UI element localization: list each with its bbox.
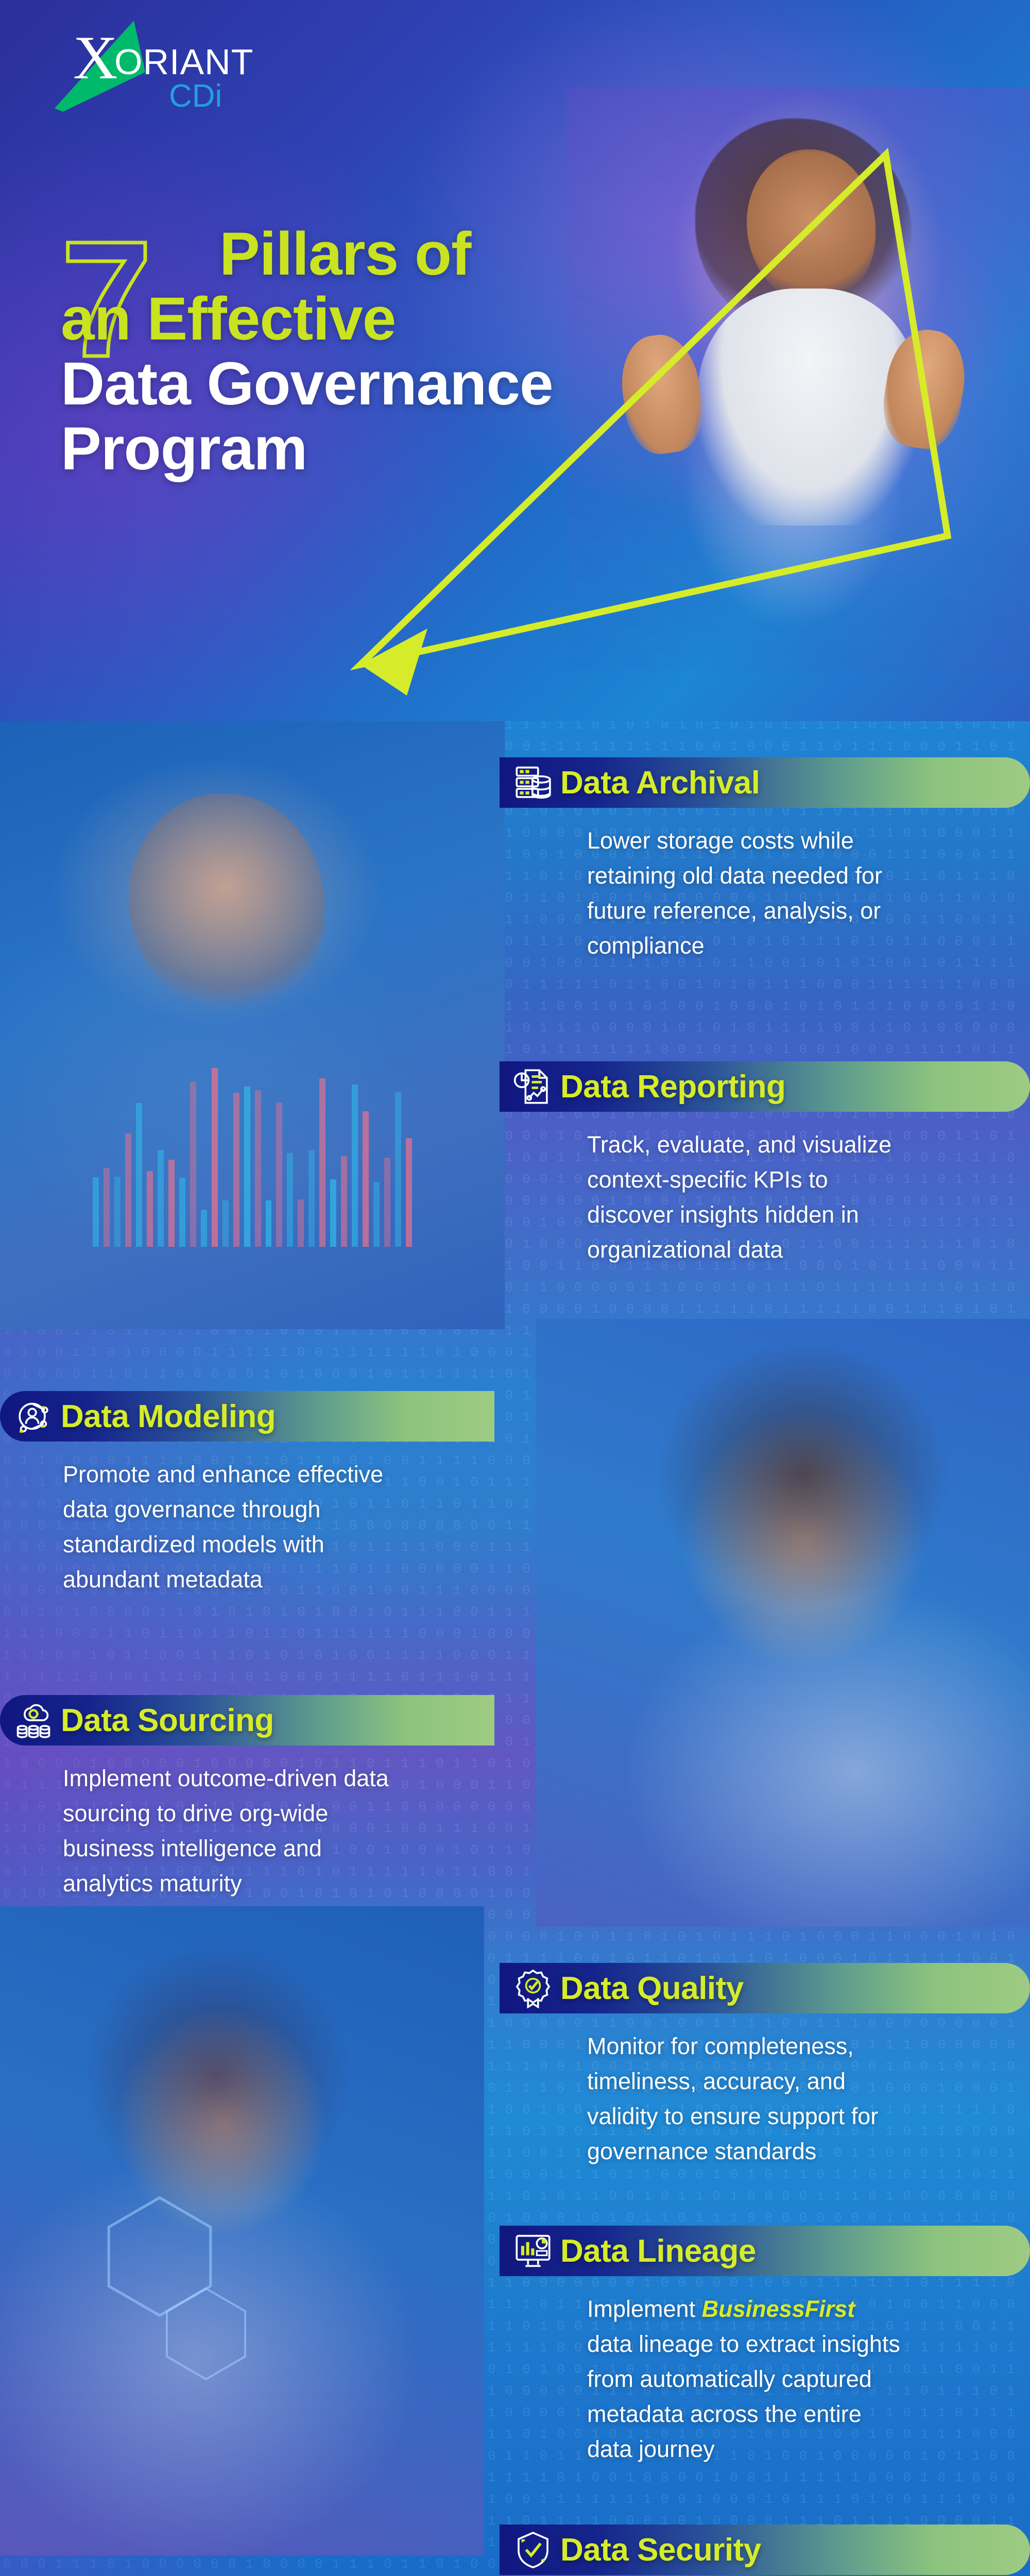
pillar-card-data-modeling: Data Modeling Promote and enhance effect… <box>0 1391 494 1597</box>
hero-title-line-2: an Effective <box>49 286 616 351</box>
database-server-icon <box>513 762 553 803</box>
pillar-card-data-quality: Data Quality Monitor for completeness, t… <box>500 1963 1030 2169</box>
pillar-body-data-sourcing: Implement outcome-driven data sourcing t… <box>0 1761 407 1901</box>
pillar-body-data-archival: Lower storage costs while retaining old … <box>500 823 906 963</box>
hero-title-line-1: Pillars of <box>49 222 616 286</box>
cloud-database-icon <box>13 1700 54 1740</box>
pillar-header-data-security[interactable]: Data Security <box>500 2524 1030 2575</box>
hero-section: X ORIANT CDi 7 Pillars of an Effective D… <box>0 0 1030 721</box>
pillar-title-data-modeling: Data Modeling <box>61 1398 276 1435</box>
pillar-card-data-security: Data Security Achieve data integrity and… <box>500 2524 1030 2576</box>
pillar-card-data-sourcing: Data Sourcing Implement outcome-driven d… <box>0 1695 494 1901</box>
xoriant-logo[interactable]: X ORIANT CDi <box>36 16 273 120</box>
pillar-header-data-quality[interactable]: Data Quality <box>500 1963 1030 2013</box>
shield-check-icon <box>513 2530 553 2570</box>
report-chart-document-icon <box>513 1066 553 1107</box>
pillar-body-data-quality: Monitor for completeness, timeliness, ac… <box>500 2029 906 2169</box>
pillar-body-data-lineage: Implement BusinessFirst data lineage to … <box>500 2292 906 2467</box>
pillar-card-data-lineage: Data Lineage Implement BusinessFirst dat… <box>500 2226 1030 2467</box>
svg-text:X: X <box>73 23 118 92</box>
svg-text:ORIANT: ORIANT <box>114 42 253 82</box>
pillar-header-data-archival[interactable]: Data Archival <box>500 757 1030 808</box>
pillar-header-data-lineage[interactable]: Data Lineage <box>500 2226 1030 2276</box>
lineage-body-emphasis: BusinessFirst <box>702 2296 855 2322</box>
hero-title-line-4: Program <box>49 416 616 481</box>
pillar-title-data-archival: Data Archival <box>560 765 760 801</box>
pillar-title-data-security: Data Security <box>560 2532 761 2568</box>
pillar-title-data-lineage: Data Lineage <box>560 2233 756 2269</box>
pillar-header-data-modeling[interactable]: Data Modeling <box>0 1391 494 1442</box>
monitor-dashboard-icon <box>513 2231 553 2271</box>
hero-title: Pillars of an Effective Data Governance … <box>49 222 616 481</box>
pillar-header-data-sourcing[interactable]: Data Sourcing <box>0 1695 494 1745</box>
lineage-body-pre: Implement <box>587 2296 702 2322</box>
photo-woman-touching-screen <box>0 1906 484 2555</box>
photo-woman-with-tablet <box>536 1319 1030 1927</box>
pillar-title-data-quality: Data Quality <box>560 1970 744 2007</box>
pillar-body-data-modeling: Promote and enhance effective data gover… <box>0 1457 407 1597</box>
infographic-root: 0000010110000100010101011011010011111010… <box>0 0 1030 2576</box>
lineage-body-post: data lineage to extract insights from au… <box>587 2331 900 2462</box>
pillar-body-data-reporting: Track, evaluate, and visualize context-s… <box>500 1127 906 1267</box>
hero-title-line-3: Data Governance <box>49 351 616 416</box>
pillar-header-data-reporting[interactable]: Data Reporting <box>500 1061 1030 1112</box>
svg-text:CDi: CDi <box>169 78 222 114</box>
network-node-icon <box>13 1396 54 1436</box>
pillar-title-data-sourcing: Data Sourcing <box>61 1702 274 1739</box>
pillar-card-data-archival: Data Archival Lower storage costs while … <box>500 757 1030 963</box>
pillar-card-data-reporting: Data Reporting Track, evaluate, and visu… <box>500 1061 1030 1267</box>
bar-chart-overlay <box>93 1061 412 1247</box>
quality-badge-check-icon <box>513 1968 553 2008</box>
pillar-title-data-reporting: Data Reporting <box>560 1069 785 1105</box>
